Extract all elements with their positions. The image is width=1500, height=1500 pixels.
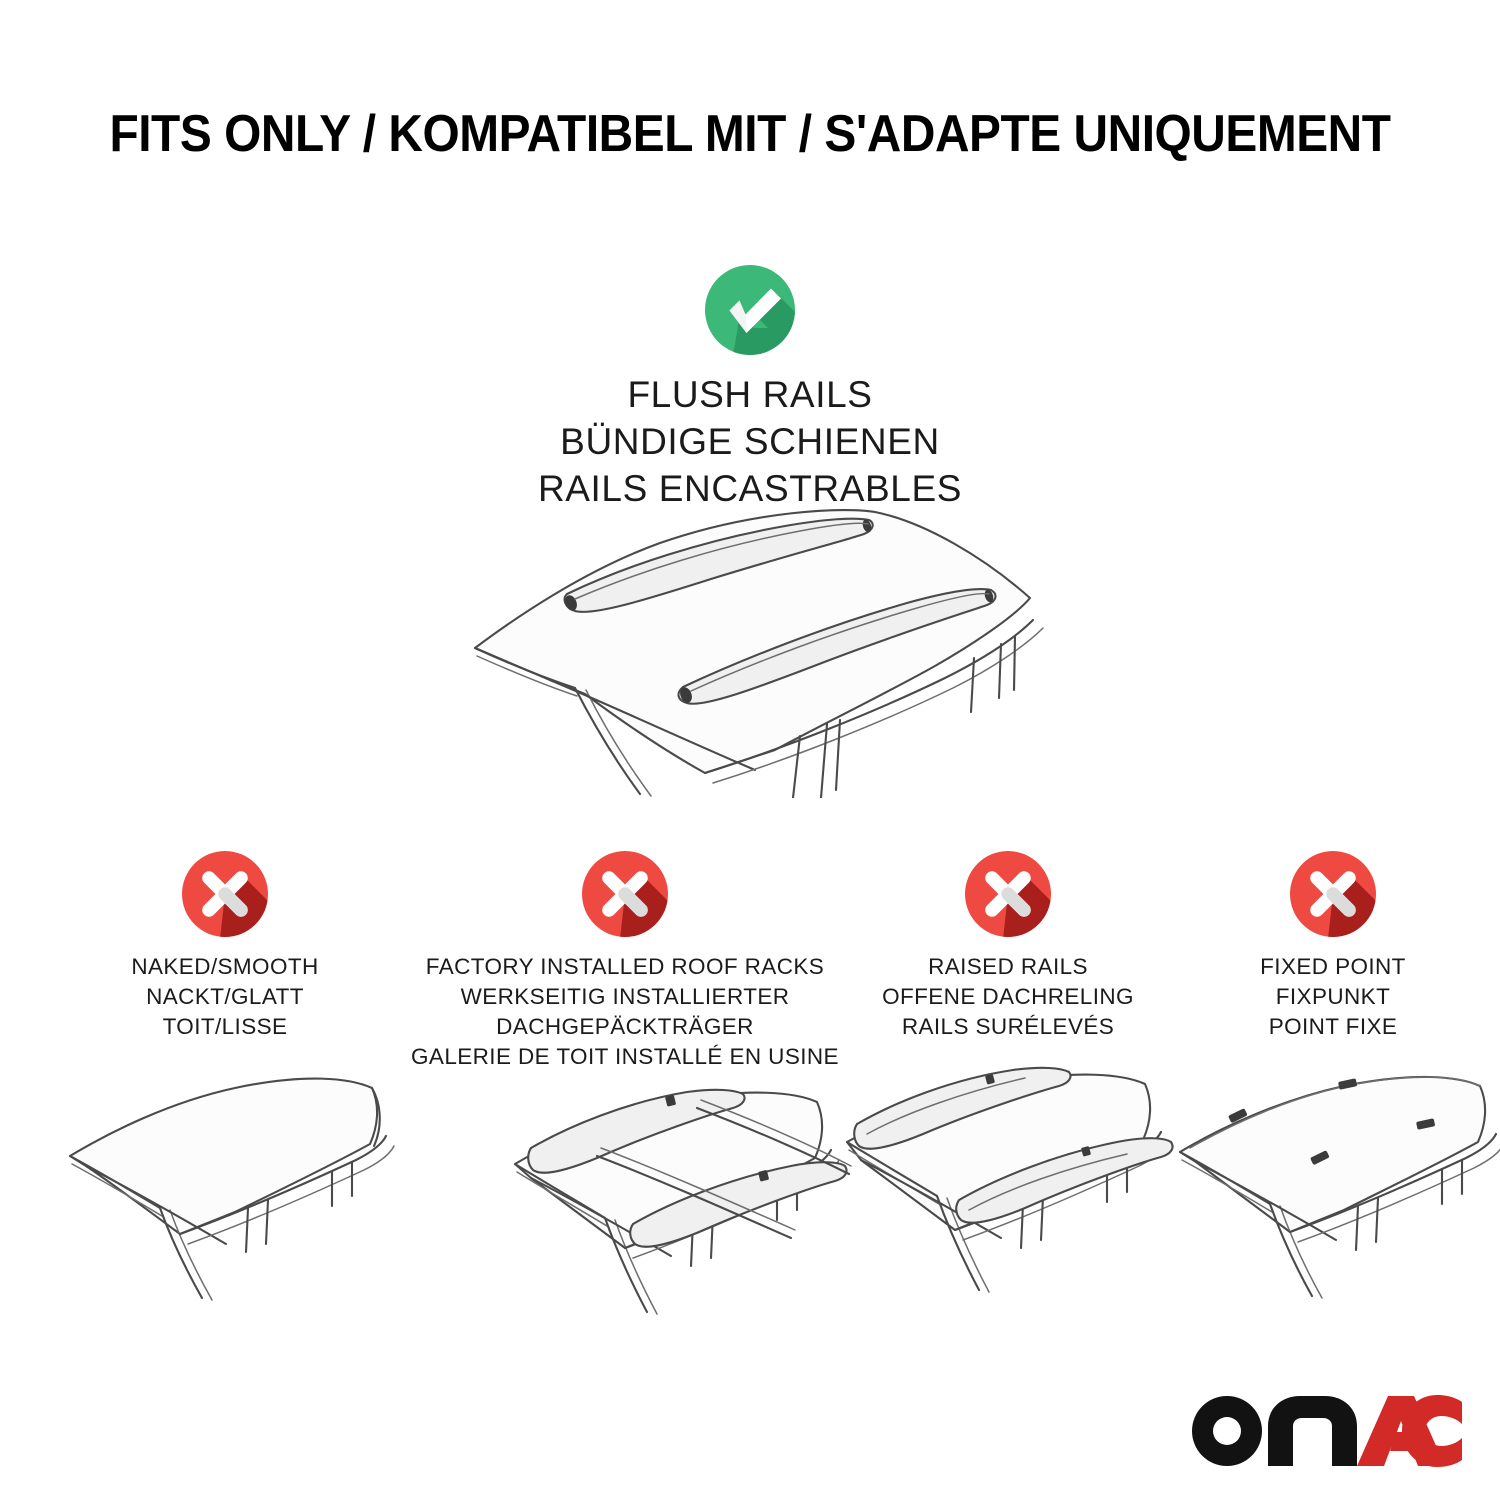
label-en: FACTORY INSTALLED ROOF RACKS [395, 952, 855, 982]
incompatible-labels: FACTORY INSTALLED ROOF RACKS WERKSEITIG … [395, 952, 855, 1072]
compatible-label-en: FLUSH RAILS [420, 372, 1080, 419]
car-roof-flush-rails-illustration [455, 498, 1065, 798]
label-en: NAKED/SMOOTH [40, 952, 410, 982]
incompatible-item-naked-smooth: NAKED/SMOOTH NACKT/GLATT TOIT/LISSE [40, 848, 410, 1042]
label-fr: GALERIE DE TOIT INSTALLÉ EN USINE [395, 1042, 855, 1072]
cross-circle-icon [1287, 848, 1379, 940]
cross-circle-icon [179, 848, 271, 940]
cross-circle-icon [579, 848, 671, 940]
label-de: OFFENE DACHRELING [838, 982, 1178, 1012]
car-roof-fixed-point-illustration [1168, 1066, 1498, 1311]
compatible-label-de: BÜNDIGE SCHIENEN [420, 419, 1080, 466]
check-circle-icon [702, 262, 798, 358]
incompatible-item-factory-roof-racks: FACTORY INSTALLED ROOF RACKS WERKSEITIG … [395, 848, 855, 1072]
car-roof-raised-rails-illustration [833, 1066, 1173, 1311]
compatible-labels: FLUSH RAILS BÜNDIGE SCHIENEN RAILS ENCAS… [420, 372, 1080, 513]
incompatible-item-fixed-point: FIXED POINT FIXPUNKT POINT FIXE [1168, 848, 1498, 1042]
label-de-1: WERKSEITIG INSTALLIERTER [395, 982, 855, 1012]
label-fr: POINT FIXE [1168, 1012, 1498, 1042]
page-title: FITS ONLY / KOMPATIBEL MIT / S'ADAPTE UN… [60, 104, 1440, 164]
label-fr: RAILS SURÉLEVÉS [838, 1012, 1178, 1042]
label-de: FIXPUNKT [1168, 982, 1498, 1012]
omac-logo [1192, 1394, 1462, 1468]
incompatible-labels: RAISED RAILS OFFENE DACHRELING RAILS SUR… [838, 952, 1178, 1042]
label-de-2: DACHGEPÄCKTRÄGER [395, 1012, 855, 1042]
label-de: NACKT/GLATT [40, 982, 410, 1012]
incompatible-labels: NAKED/SMOOTH NACKT/GLATT TOIT/LISSE [40, 952, 410, 1042]
incompatible-labels: FIXED POINT FIXPUNKT POINT FIXE [1168, 952, 1498, 1042]
cross-circle-icon [962, 848, 1054, 940]
label-fr: TOIT/LISSE [40, 1012, 410, 1042]
label-en: FIXED POINT [1168, 952, 1498, 982]
incompatible-item-raised-rails: RAISED RAILS OFFENE DACHRELING RAILS SUR… [838, 848, 1178, 1042]
compatible-section: FLUSH RAILS BÜNDIGE SCHIENEN RAILS ENCAS… [420, 262, 1080, 513]
car-roof-naked-smooth-illustration [50, 1066, 420, 1311]
label-en: RAISED RAILS [838, 952, 1178, 982]
